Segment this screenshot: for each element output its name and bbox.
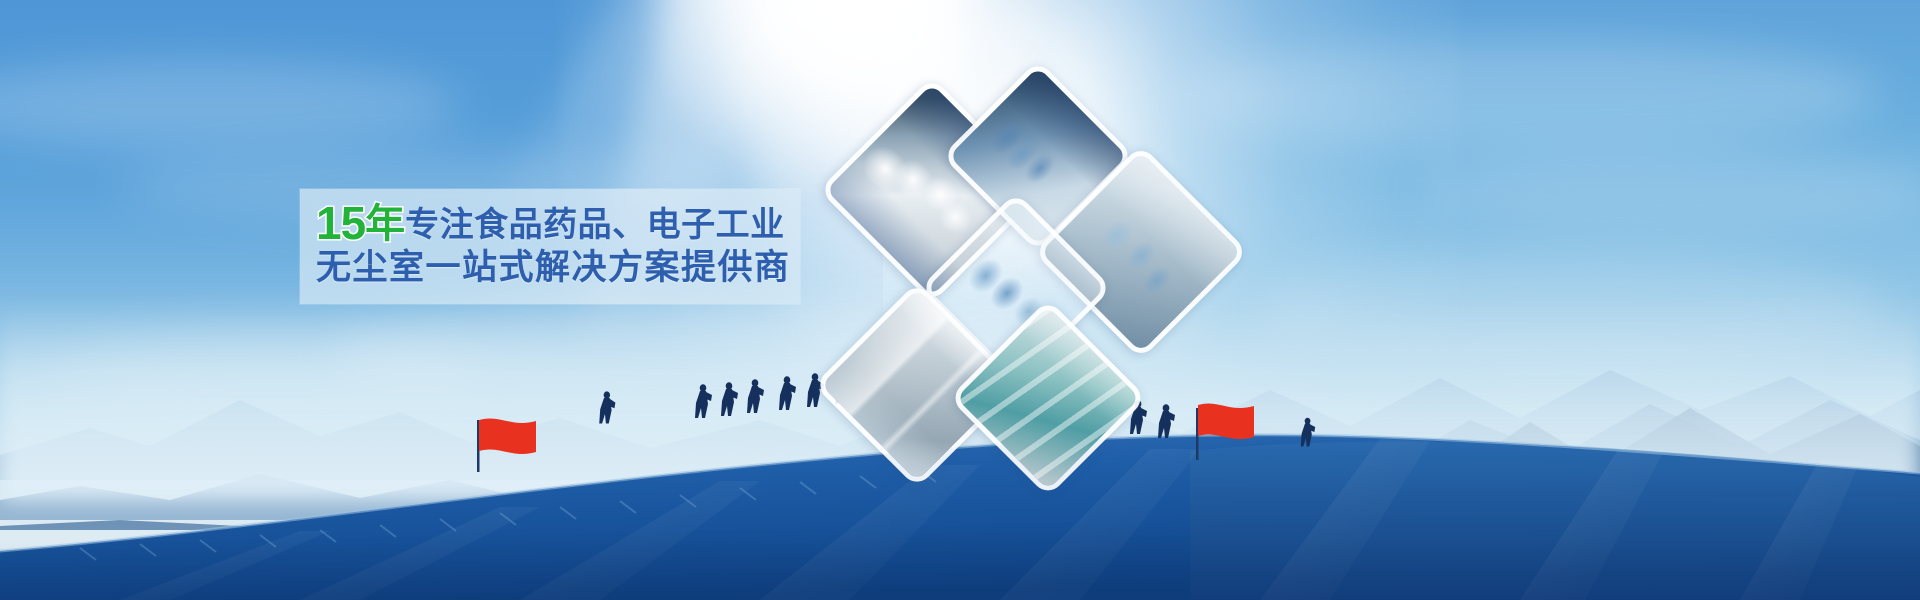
years-number: 15 <box>316 197 365 249</box>
headline-line-1: 15年专注食品药品、电子工业 <box>316 200 796 248</box>
bottom-vignette <box>0 540 1920 600</box>
headline-line-1-rest: 专注食品药品、电子工业 <box>405 206 785 244</box>
headline-block: 15年专注食品药品、电子工业 无尘室一站式解决方案提供商 <box>316 200 796 298</box>
headline-line-2: 无尘室一站式解决方案提供商 <box>316 250 796 298</box>
diamond-photo-grid <box>830 80 1290 470</box>
cloud <box>1420 150 1920 230</box>
years-unit: 年 <box>365 202 405 246</box>
headline-line-2-text: 无尘室一站式解决方案提供商 <box>316 248 791 287</box>
hero-banner: 15年专注食品药品、电子工业 无尘室一站式解决方案提供商 <box>0 0 1920 600</box>
